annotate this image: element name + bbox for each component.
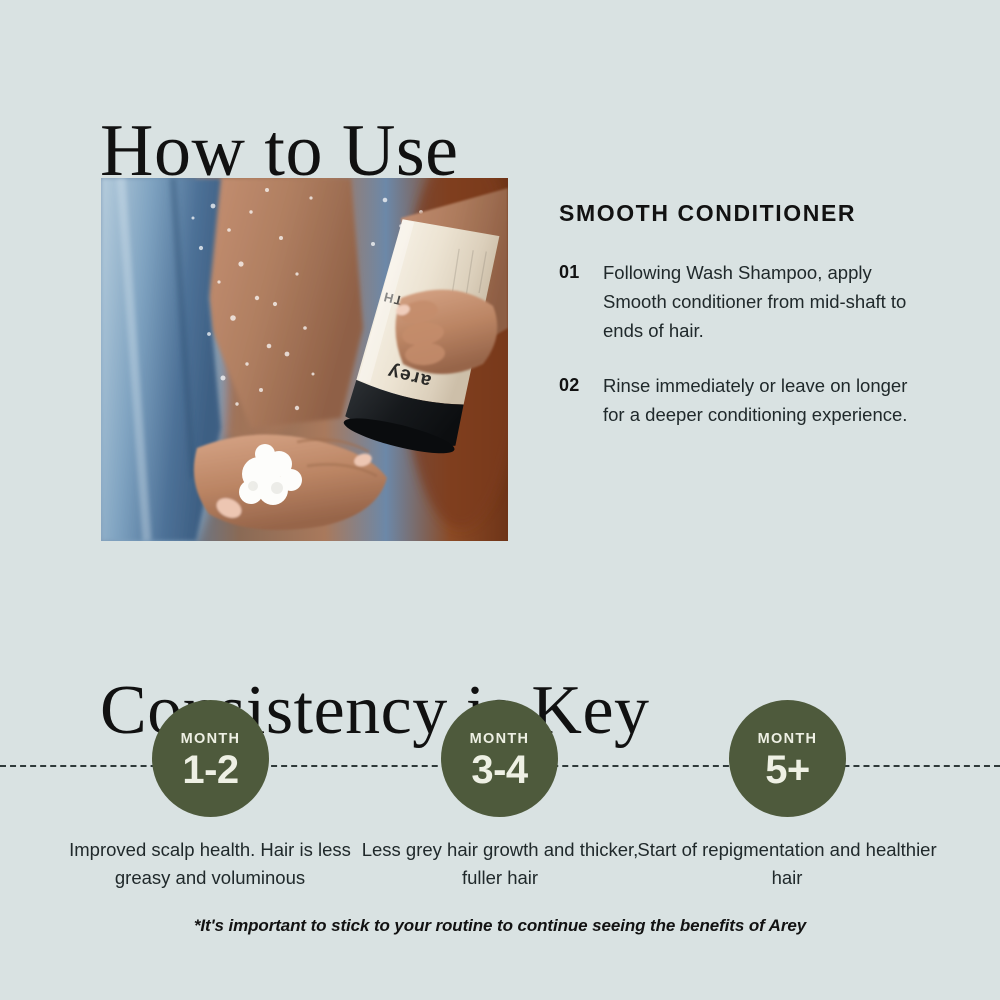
footnote: *It's important to stick to your routine… — [0, 916, 1000, 936]
product-name: SMOOTH CONDITIONER — [559, 198, 919, 228]
milestone-label: MONTH — [758, 731, 818, 747]
milestone-caption: Less grey hair growth and thicker, fulle… — [350, 836, 650, 892]
step-text: Rinse immediately or leave on longer for… — [603, 371, 919, 429]
milestone-badge-1-2: MONTH 1-2 — [152, 700, 269, 817]
instructions-panel: SMOOTH CONDITIONER 01 Following Wash Sha… — [559, 198, 919, 455]
milestone-label: MONTH — [470, 731, 530, 747]
usage-photo: SMOOTH arey — [101, 178, 508, 541]
usage-photo-illustration: SMOOTH arey — [101, 178, 508, 541]
milestone-value: 5+ — [765, 748, 810, 792]
step-number: 01 — [559, 258, 603, 287]
milestone-value: 3-4 — [471, 748, 527, 792]
step-number: 02 — [559, 371, 603, 400]
milestone-value: 1-2 — [182, 748, 238, 792]
milestone-label: MONTH — [181, 731, 241, 747]
how-to-use-page: How to Use — [0, 0, 1000, 1000]
milestone-badge-5-plus: MONTH 5+ — [729, 700, 846, 817]
timeline: MONTH 1-2 MONTH 3-4 MONTH 5+ — [0, 700, 1000, 840]
milestone-badge-3-4: MONTH 3-4 — [441, 700, 558, 817]
step-item: 01 Following Wash Shampoo, apply Smooth … — [559, 258, 919, 345]
step-item: 02 Rinse immediately or leave on longer … — [559, 371, 919, 429]
step-text: Following Wash Shampoo, apply Smooth con… — [603, 258, 919, 345]
milestone-caption: Improved scalp health. Hair is less grea… — [60, 836, 360, 892]
milestone-caption: Start of repigmentation and healthier ha… — [637, 836, 937, 892]
